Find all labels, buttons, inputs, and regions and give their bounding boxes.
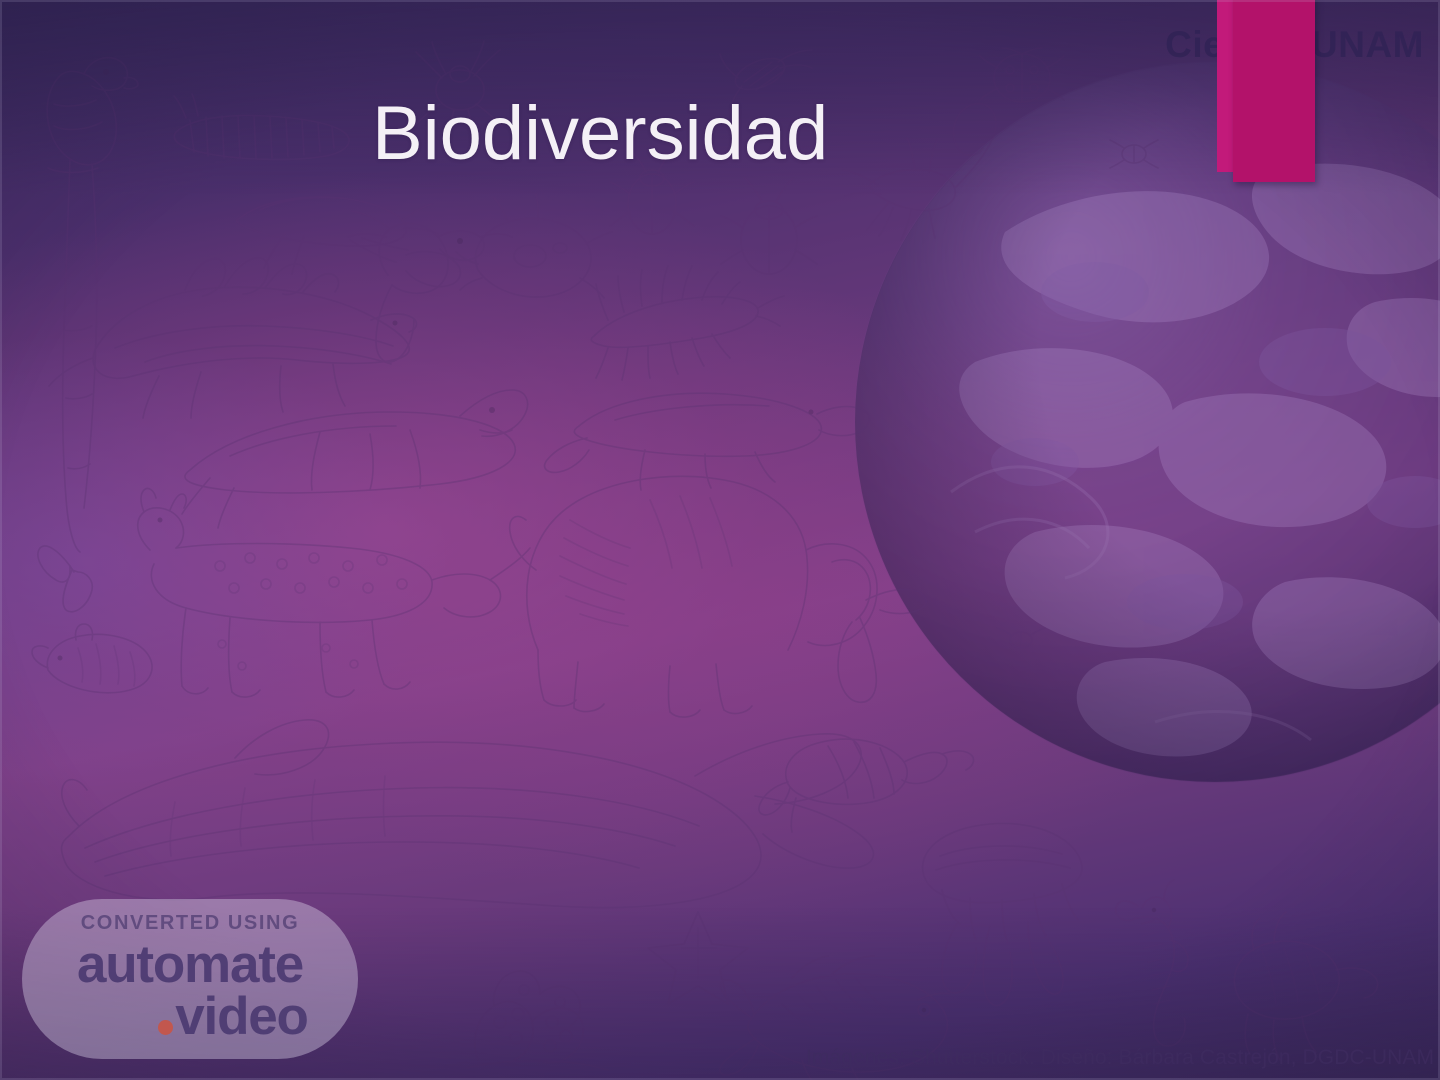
watermark-suffix-line: video: [158, 989, 307, 1045]
presentation-slide: Ciencia UNAM Biodiversidad Imágenes: Shu…: [0, 0, 1440, 1080]
automate-video-watermark: CONVERTED USING automate video: [22, 899, 358, 1059]
slide-title: Biodiversidad: [372, 93, 872, 175]
watermark-suffix-text: video: [175, 989, 307, 1045]
magenta-flag-front: [1233, 0, 1315, 182]
watermark-kicker-text: CONVERTED USING: [81, 912, 299, 935]
watermark-brand-text: automate: [77, 937, 303, 993]
watermark-dot-icon: [158, 1020, 173, 1035]
slide-title-text: Biodiversidad: [372, 93, 872, 175]
image-credit-line: Imágenes: Shutterstock. Diseño: Bárbara …: [806, 1046, 1434, 1070]
